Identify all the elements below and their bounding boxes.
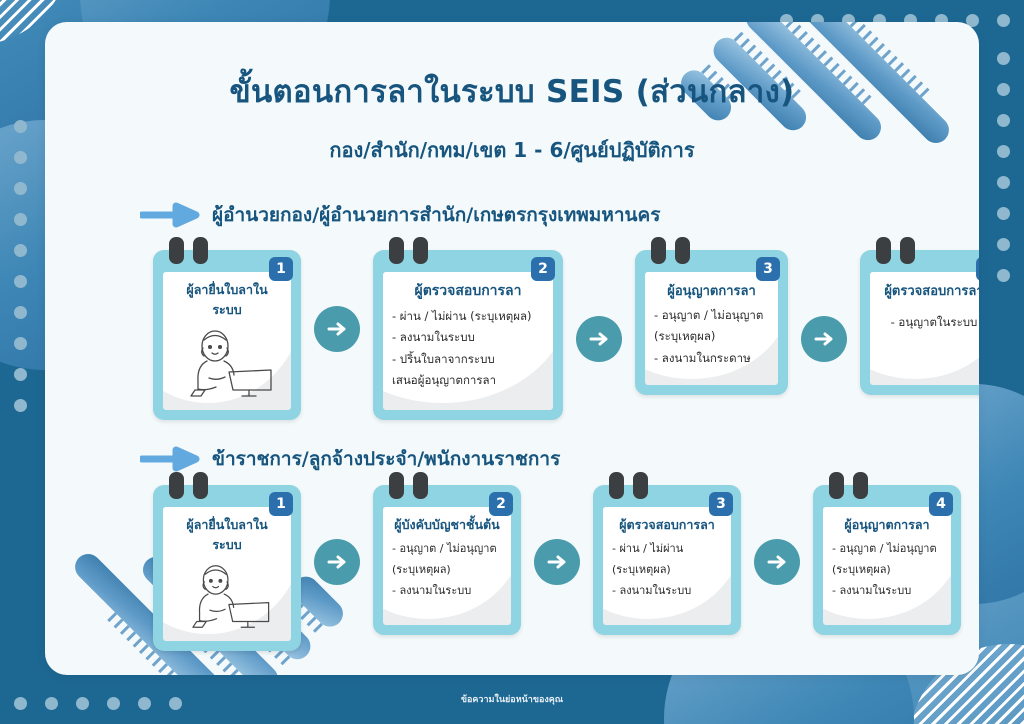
- binder-clip-group: [389, 237, 428, 264]
- decor-dot: [14, 120, 27, 133]
- step-bullet: (ระบุเหตุผล): [392, 563, 502, 577]
- step-title: ผู้อนุญาตการลา: [654, 280, 769, 301]
- step-card[interactable]: 2 ผู้บังคับบัญชาชั้นต้น - อนุญาต / ไม่อน…: [373, 485, 521, 635]
- flow-step[interactable]: 3 ผู้ตรวจสอบการลา - ผ่าน / ไม่ผ่าน (ระบุ…: [593, 485, 741, 635]
- section-heading-label: ข้าราชการ/ลูกจ้างประจำ/พนักงานราชการ: [212, 444, 560, 474]
- flow-step[interactable]: 4 ผู้อนุญาตการลา - อนุญาต / ไม่อนุญาต (ร…: [813, 485, 961, 635]
- step-card[interactable]: 3 ผู้ตรวจสอบการลา - ผ่าน / ไม่ผ่าน (ระบุ…: [593, 485, 741, 635]
- arrow-right-icon: [140, 446, 202, 472]
- section-heading-label: ผู้อำนวยกอง/ผู้อำนวยการสำนัก/เกษตรกรุงเท…: [212, 200, 660, 230]
- arrow-right-icon: [325, 550, 349, 574]
- step-title: ผู้อนุญาตการลา: [832, 515, 942, 535]
- step-bullet: - ผ่าน / ไม่ผ่าน (ระบุเหตุผล): [392, 309, 544, 323]
- binder-clip-icon: [413, 237, 428, 264]
- person-at-desk-icon: [179, 561, 275, 631]
- step-bullet: - ลงนามในระบบ: [612, 584, 722, 598]
- flow-step[interactable]: 4 ผู้ตรวจสอบการลา - อนุญาตในระบบ: [860, 250, 979, 395]
- decor-dot: [14, 213, 27, 226]
- step-card-inner: ผู้ลายื่นใบลาในระบบ: [163, 507, 291, 641]
- binder-clip-icon: [169, 237, 184, 264]
- binder-clip-icon: [193, 237, 208, 264]
- step-number-badge: 2: [531, 257, 555, 281]
- arrow-right-icon: [765, 550, 789, 574]
- binder-clip-group: [169, 237, 208, 264]
- step-bullet: - ลงนามในกระดาษ: [654, 351, 769, 365]
- infographic-canvas: ขั้นตอนการลาในระบบ SEIS (ส่วนกลาง) กอง/ส…: [0, 0, 1024, 724]
- step-number-badge: 1: [269, 257, 293, 281]
- footer-text: ข้อความในย่อหน้าของคุณ: [0, 692, 1024, 706]
- flow-row-1: 1 ผู้ลายื่นใบลาในระบบ: [153, 250, 979, 420]
- binder-clip-icon: [829, 472, 844, 499]
- step-bullet: - อนุญาต / ไม่อนุญาต: [392, 542, 502, 556]
- decor-dot: [14, 275, 27, 288]
- step-bullet: (ระบุเหตุผล): [654, 329, 769, 343]
- flow-step[interactable]: 2 ผู้ตรวจสอบการลา - ผ่าน / ไม่ผ่าน (ระบุ…: [373, 250, 563, 420]
- step-number-badge: 2: [489, 492, 513, 516]
- decor-dot: [997, 83, 1010, 96]
- step-card-inner: ผู้ตรวจสอบการลา - อนุญาตในระบบ: [870, 272, 979, 385]
- step-card[interactable]: 1 ผู้ลายื่นใบลาในระบบ: [153, 485, 301, 651]
- page-title: ขั้นตอนการลาในระบบ SEIS (ส่วนกลาง): [45, 66, 979, 116]
- binder-clip-icon: [389, 237, 404, 264]
- step-bullet: - ลงนามในระบบ: [392, 584, 502, 598]
- person-at-desk-icon: [179, 326, 275, 400]
- section-heading-1: ผู้อำนวยกอง/ผู้อำนวยการสำนัก/เกษตรกรุงเท…: [140, 200, 660, 230]
- arrow-right-icon: [140, 202, 202, 228]
- decor-dot: [997, 52, 1010, 65]
- step-number-badge: 4: [976, 257, 979, 281]
- binder-clip-icon: [651, 237, 666, 264]
- step-bullet: - อนุญาต / ไม่อนุญาต: [654, 308, 769, 322]
- illustration: [172, 561, 282, 631]
- arrow-right-icon: [812, 327, 836, 351]
- decor-dot: [14, 244, 27, 257]
- step-card-inner: ผู้อนุญาตการลา - อนุญาต / ไม่อนุญาต (ระบ…: [823, 507, 951, 625]
- step-card-inner: ผู้บังคับบัญชาชั้นต้น - อนุญาต / ไม่อนุญ…: [383, 507, 511, 625]
- flow-connector-arrow: [314, 539, 360, 585]
- binder-clip-group: [389, 472, 428, 499]
- decor-dot: [997, 269, 1010, 282]
- binder-clip-group: [169, 472, 208, 499]
- step-title: ผู้ลายื่นใบลาในระบบ: [172, 515, 282, 555]
- step-number-badge: 1: [269, 492, 293, 516]
- step-bullet: - ผ่าน / ไม่ผ่าน: [612, 542, 722, 556]
- flow-step[interactable]: 2 ผู้บังคับบัญชาชั้นต้น - อนุญาต / ไม่อน…: [373, 485, 521, 635]
- decor-dot: [14, 151, 27, 164]
- flow-step[interactable]: 1 ผู้ลายื่นใบลาในระบบ: [153, 485, 301, 651]
- decor-dot: [14, 306, 27, 319]
- binder-clip-icon: [413, 472, 428, 499]
- decor-dot: [997, 14, 1010, 27]
- step-title: ผู้ตรวจสอบการลา: [392, 280, 544, 302]
- decor-dot: [997, 176, 1010, 189]
- step-title: ผู้ตรวจสอบการลา: [612, 515, 722, 535]
- decor-dot: [14, 368, 27, 381]
- binder-clip-icon: [193, 472, 208, 499]
- step-card-inner: ผู้อนุญาตการลา - อนุญาต / ไม่อนุญาต (ระบ…: [645, 272, 778, 385]
- step-number-badge: 4: [929, 492, 953, 516]
- binder-clip-icon: [853, 472, 868, 499]
- flow-connector-arrow: [801, 316, 847, 362]
- step-bullet: - ลงนามในระบบ: [832, 584, 942, 598]
- step-card[interactable]: 3 ผู้อนุญาตการลา - อนุญาต / ไม่อนุญาต (ร…: [635, 250, 788, 395]
- flow-connector-arrow: [314, 306, 360, 352]
- decor-dot: [997, 145, 1010, 158]
- arrow-right-icon: [545, 550, 569, 574]
- binder-clip-icon: [609, 472, 624, 499]
- step-bullet: (ระบุเหตุผล): [612, 563, 722, 577]
- binder-clip-icon: [169, 472, 184, 499]
- step-bullet: - ลงนามในระบบ: [392, 330, 544, 344]
- step-card[interactable]: 4 ผู้ตรวจสอบการลา - อนุญาตในระบบ: [860, 250, 979, 395]
- binder-clip-group: [829, 472, 868, 499]
- decor-dot: [14, 337, 27, 350]
- binder-clip-group: [876, 237, 915, 264]
- arrow-right-icon: [587, 327, 611, 351]
- binder-clip-icon: [675, 237, 690, 264]
- flow-connector-arrow: [754, 539, 800, 585]
- step-bullet: เสนอผู้อนุญาตการลา: [392, 373, 544, 387]
- flow-row-2: 1 ผู้ลายื่นใบลาในระบบ: [153, 485, 961, 651]
- binder-clip-icon: [900, 237, 915, 264]
- decor-dot: [997, 114, 1010, 127]
- step-card-inner: ผู้ตรวจสอบการลา - ผ่าน / ไม่ผ่าน (ระบุเห…: [383, 272, 553, 410]
- flow-connector-arrow: [534, 539, 580, 585]
- step-title: ผู้บังคับบัญชาชั้นต้น: [392, 515, 502, 535]
- step-bullet: - อนุญาตในระบบ: [879, 315, 979, 329]
- decor-dot: [14, 182, 27, 195]
- page-subtitle: กอง/สำนัก/กทม/เขต 1 - 6/ศูนย์ปฏิบัติการ: [45, 134, 979, 166]
- step-card[interactable]: 1 ผู้ลายื่นใบลาในระบบ: [153, 250, 301, 420]
- step-number-badge: 3: [756, 257, 780, 281]
- step-title: ผู้ตรวจสอบการลา: [879, 280, 979, 301]
- binder-clip-icon: [389, 472, 404, 499]
- binder-clip-group: [609, 472, 648, 499]
- step-card[interactable]: 2 ผู้ตรวจสอบการลา - ผ่าน / ไม่ผ่าน (ระบุ…: [373, 250, 563, 420]
- binder-clip-icon: [876, 237, 891, 264]
- step-card-inner: ผู้ลายื่นใบลาในระบบ: [163, 272, 291, 410]
- flow-connector-arrow: [576, 316, 622, 362]
- step-bullet: (ระบุเหตุผล): [832, 563, 942, 577]
- flow-step[interactable]: 3 ผู้อนุญาตการลา - อนุญาต / ไม่อนุญาต (ร…: [635, 250, 788, 395]
- decor-dot-column-left: [14, 120, 27, 412]
- illustration: [172, 326, 282, 400]
- step-card[interactable]: 4 ผู้อนุญาตการลา - อนุญาต / ไม่อนุญาต (ร…: [813, 485, 961, 635]
- binder-clip-group: [651, 237, 690, 264]
- decor-dot: [14, 399, 27, 412]
- step-number-badge: 3: [709, 492, 733, 516]
- binder-clip-icon: [633, 472, 648, 499]
- step-title: ผู้ลายื่นใบลาในระบบ: [172, 280, 282, 320]
- decor-dot: [997, 238, 1010, 251]
- step-card-inner: ผู้ตรวจสอบการลา - ผ่าน / ไม่ผ่าน (ระบุเห…: [603, 507, 731, 625]
- flow-step[interactable]: 1 ผู้ลายื่นใบลาในระบบ: [153, 250, 301, 420]
- decor-dot: [997, 207, 1010, 220]
- step-bullet: - ปริ้นใบลาจากระบบ: [392, 352, 544, 366]
- content-panel: ขั้นตอนการลาในระบบ SEIS (ส่วนกลาง) กอง/ส…: [45, 22, 979, 675]
- arrow-right-icon: [325, 317, 349, 341]
- step-bullet: - อนุญาต / ไม่อนุญาต: [832, 542, 942, 556]
- decor-dot-column-right: [997, 52, 1010, 282]
- section-heading-2: ข้าราชการ/ลูกจ้างประจำ/พนักงานราชการ: [140, 444, 560, 474]
